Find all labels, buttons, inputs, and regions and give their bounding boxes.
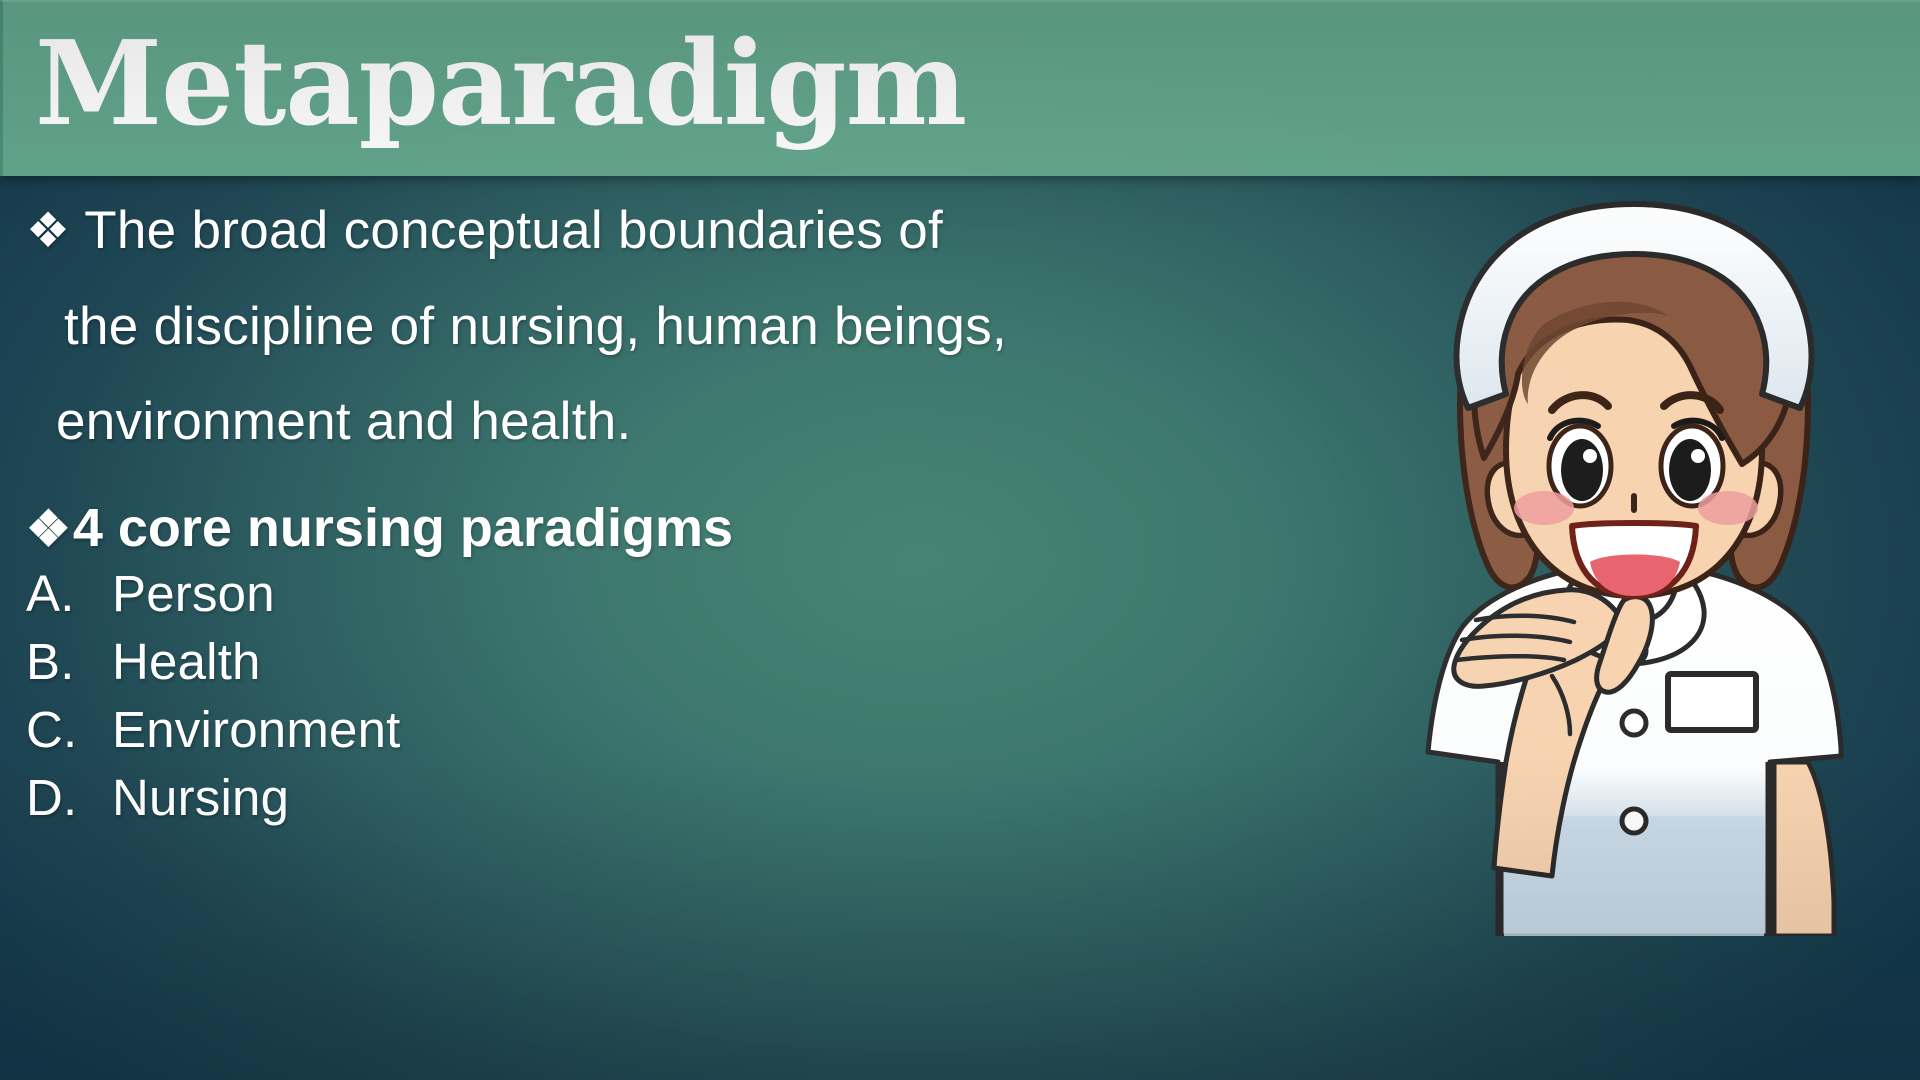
diamond-bullet-icon: ❖ xyxy=(26,184,70,279)
nurse-blush-left xyxy=(1514,491,1574,525)
nurse-right-arm xyxy=(1774,762,1834,936)
title-banner: Metaparadigm xyxy=(0,0,1920,176)
paradigms-heading-text: 4 core nursing paradigms xyxy=(73,498,733,558)
nurse-illustration xyxy=(1338,196,1920,936)
list-item: A. Person xyxy=(26,564,401,632)
list-item-label: Nursing xyxy=(112,768,289,827)
paragraph-line-3: environment and health. xyxy=(26,374,1316,469)
page-title: Metaparadigm xyxy=(35,4,966,164)
paradigm-answer-list: A. Person B. Health C. Environment D. Nu… xyxy=(26,564,401,836)
list-item-marker: B. xyxy=(26,632,112,691)
list-item-marker: A. xyxy=(26,564,112,623)
list-item: B. Health xyxy=(26,632,401,700)
paragraph-line-2: the discipline of nursing, human beings, xyxy=(26,279,1316,374)
list-item: D. Nursing xyxy=(26,768,401,836)
list-item-marker: C. xyxy=(26,700,112,759)
definition-paragraph: ❖The broad conceptual boundaries of the … xyxy=(26,183,1316,469)
diamond-bullet-icon-2: ❖ xyxy=(26,493,71,565)
paragraph-line-1-text: The broad conceptual boundaries of xyxy=(84,201,943,260)
list-item: C. Environment xyxy=(26,700,401,768)
slide-body: ❖The broad conceptual boundaries of the … xyxy=(0,176,1320,1080)
paragraph-line-1: ❖The broad conceptual boundaries of xyxy=(26,183,1316,279)
list-item-label: Health xyxy=(112,632,261,691)
list-item-label: Environment xyxy=(112,700,401,759)
list-item-label: Person xyxy=(112,564,275,623)
paradigms-heading: ❖4 core nursing paradigms xyxy=(26,492,733,565)
list-item-marker: D. xyxy=(26,768,112,827)
nurse-blush-right xyxy=(1698,491,1758,525)
slide-canvas: Metaparadigm ❖The broad conceptual bound… xyxy=(0,0,1920,1080)
